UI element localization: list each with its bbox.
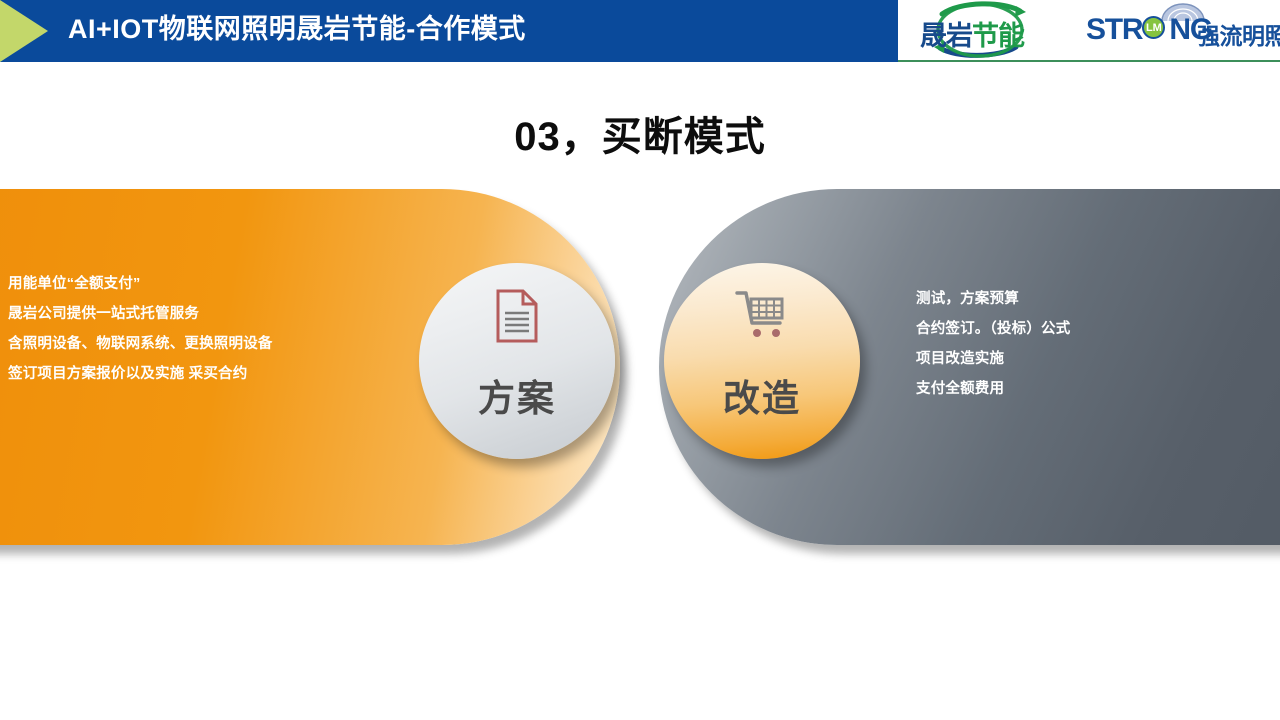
retrofit-circle-label: 改造: [664, 368, 860, 422]
plan-circle-label: 方案: [419, 368, 615, 422]
plan-circle[interactable]: 方案: [419, 263, 615, 459]
content-stage: 用能单位“全额支付” 晟岩公司提供一站式托管服务 含照明设备、物联网系统、更换照…: [0, 189, 1280, 569]
right-panel-text-block: 测试，方案预算 合约签订。（投标）公式 项目改造实施 支付全额费用: [916, 284, 1246, 404]
retrofit-circle[interactable]: 改造: [664, 263, 860, 459]
page-title: 03，买断模式: [0, 104, 1280, 162]
left-panel-line-4: 签订项目方案报价以及实施 采买合约: [8, 359, 348, 389]
header-title: AI+IOT物联网照明晟岩节能-合作模式: [68, 0, 526, 62]
logo-brand-green: 节能: [972, 21, 1024, 51]
strong-lm-text: LM: [1142, 16, 1165, 39]
slide-header: AI+IOT物联网照明晟岩节能-合作模式 晟岩节能 STRLMNG ®: [0, 0, 1280, 62]
left-panel-line-1: 用能单位“全额支付”: [8, 269, 348, 299]
shopping-cart-icon: [664, 289, 860, 346]
company-logo: 晟岩节能 STRLMNG ® 强流明照明: [898, 0, 1280, 62]
right-panel-line-1: 测试，方案预算: [916, 284, 1246, 314]
shengyan-logo: 晟岩节能: [912, 0, 1088, 62]
left-panel-line-2: 晟岩公司提供一站式托管服务: [8, 299, 348, 329]
left-panel-text-block: 用能单位“全额支付” 晟岩公司提供一站式托管服务 含照明设备、物联网系统、更换照…: [8, 269, 348, 389]
strong-logo: STRLMNG ® 强流明照明: [1084, 0, 1280, 62]
strong-o-badge-icon: LM: [1142, 16, 1169, 43]
strong-wordmark: STRLMNG: [1086, 13, 1212, 47]
strong-prefix: STR: [1086, 13, 1142, 46]
strong-chinese-name: 强流明照明: [1197, 17, 1280, 51]
document-icon: [419, 289, 615, 348]
left-panel-line-3: 含照明设备、物联网系统、更换照明设备: [8, 329, 348, 359]
right-panel-line-4: 支付全额费用: [916, 374, 1246, 404]
right-panel-line-3: 项目改造实施: [916, 344, 1246, 374]
right-panel-line-2: 合约签订。（投标）公式: [916, 314, 1246, 344]
logo-brand-dark: 晟岩: [920, 21, 972, 51]
shengyan-logo-text: 晟岩节能: [920, 14, 1024, 53]
